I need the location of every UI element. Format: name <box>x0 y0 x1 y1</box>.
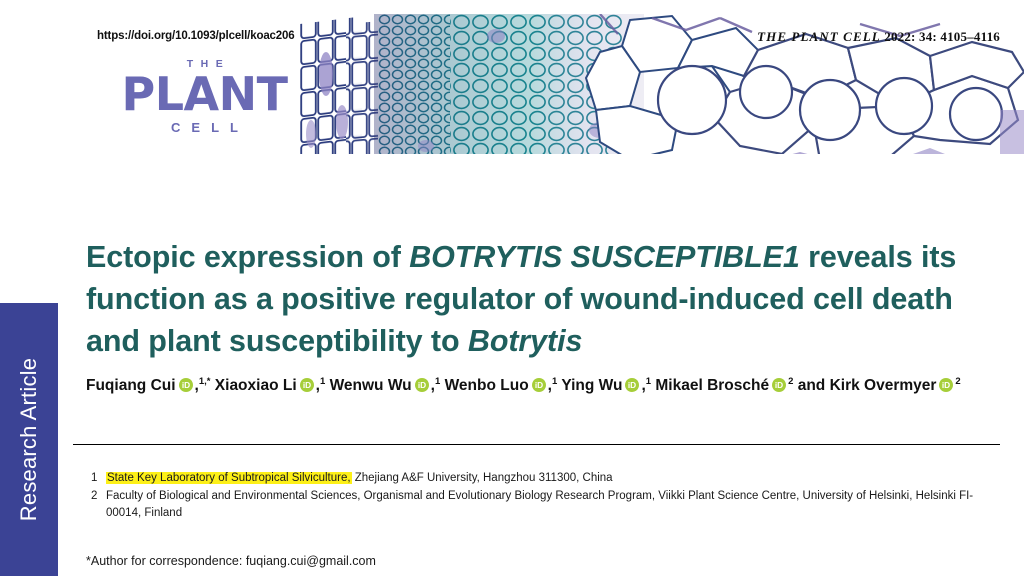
affiliation-number: 1 <box>86 470 106 488</box>
author-list: Fuqiang CuiiD,1,* Xiaoxiao LiiD,1 Wenwu … <box>86 372 1006 402</box>
orcid-id-icon[interactable]: iD <box>415 374 429 402</box>
corresponding-author-note: *Author for correspondence: fuqiang.cui@… <box>86 554 376 568</box>
research-article-tab: Research Article <box>0 303 58 576</box>
orcid-id-icon[interactable]: iD <box>179 374 193 402</box>
title-segment-0: Ectopic expression of <box>86 240 409 274</box>
affiliation-text: State Key Laboratory of Subtropical Silv… <box>106 470 1006 488</box>
author-name[interactable]: Ying Wu <box>561 377 622 394</box>
logo-line-cell: CELL <box>112 118 297 138</box>
author-affiliation-marker: 1 <box>435 376 440 387</box>
svg-text:iD: iD <box>181 380 189 390</box>
affiliation-row: 1State Key Laboratory of Subtropical Sil… <box>86 470 1006 488</box>
author-name[interactable]: Mikael Brosché <box>655 377 769 394</box>
author-name[interactable]: Fuqiang Cui <box>86 377 176 394</box>
article-title: Ectopic expression of BOTRYTIS SUSCEPTIB… <box>86 236 1006 362</box>
svg-text:iD: iD <box>775 380 783 390</box>
orcid-id-icon[interactable]: iD <box>772 374 786 402</box>
journal-citation: THE PLANT CELL 2022: 34: 4105–4116 <box>757 29 1000 45</box>
svg-text:iD: iD <box>942 380 950 390</box>
plant-cell-logo[interactable]: THE PLANT CELL <box>112 58 297 138</box>
affiliation-row: 2Faculty of Biological and Environmental… <box>86 488 1006 523</box>
title-segment-3: Botrytis <box>468 324 582 358</box>
doi-link[interactable]: https://doi.org/10.1093/plcell/koac206 <box>97 30 295 42</box>
author-name[interactable]: and Kirk Overmyer <box>798 377 937 394</box>
author-affiliation-marker: 2 <box>955 376 960 387</box>
svg-text:iD: iD <box>535 380 543 390</box>
author-affiliation-marker: 1 <box>320 376 325 387</box>
svg-text:iD: iD <box>628 380 636 390</box>
affiliation-text: Faculty of Biological and Environmental … <box>106 488 1006 523</box>
orcid-id-icon[interactable]: iD <box>939 374 953 402</box>
author-affiliation-marker: 2 <box>788 376 793 387</box>
journal-name: THE PLANT CELL <box>757 29 881 44</box>
svg-text:iD: iD <box>302 380 310 390</box>
author-name[interactable]: Wenwu Wu <box>330 377 412 394</box>
author-affiliation-marker: 1 <box>552 376 557 387</box>
author-affiliation-marker: 1 <box>646 376 651 387</box>
orcid-id-icon[interactable]: iD <box>300 374 314 402</box>
title-segment-1: BOTRYTIS SUSCEPTIBLE1 <box>409 240 800 274</box>
logo-line-plant: PLANT <box>112 71 297 118</box>
page-header: https://doi.org/10.1093/plcell/koac206 T… <box>0 0 1024 170</box>
journal-volume-pages: 2022: 34: 4105–4116 <box>884 29 1000 44</box>
affiliation-number: 2 <box>86 488 106 506</box>
horizontal-divider <box>73 444 1000 445</box>
affiliation-list: 1State Key Laboratory of Subtropical Sil… <box>86 470 1006 523</box>
orcid-id-icon[interactable]: iD <box>625 374 639 402</box>
svg-text:iD: iD <box>418 380 426 390</box>
author-name[interactable]: Wenbo Luo <box>445 377 529 394</box>
author-name[interactable]: Xiaoxiao Li <box>215 377 297 394</box>
research-article-tab-label: Research Article <box>0 303 58 576</box>
orcid-id-icon[interactable]: iD <box>532 374 546 402</box>
author-affiliation-marker: 1,* <box>199 376 211 387</box>
highlighted-affiliation: State Key Laboratory of Subtropical Silv… <box>106 472 352 484</box>
